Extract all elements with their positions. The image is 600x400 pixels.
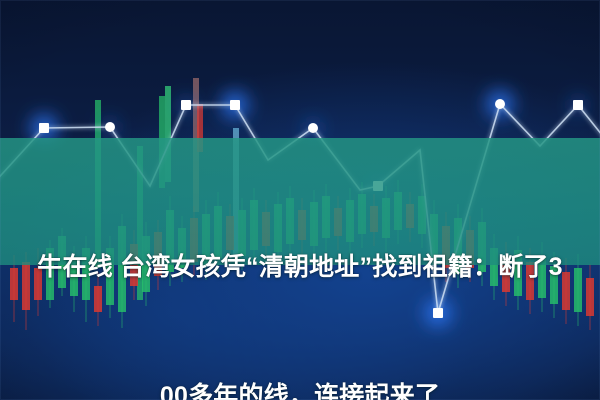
node-marker [39, 123, 49, 133]
headline-line-1: 牛在线 台湾女孩凭“清朝地址”找到祖籍：断了3 [6, 246, 594, 289]
headline-line-2: 00多年的线，连接起来了 [6, 375, 594, 400]
node-marker [105, 122, 115, 132]
node-marker [573, 100, 583, 110]
node-marker [495, 99, 505, 109]
node-marker [308, 123, 318, 133]
node-marker [230, 100, 240, 110]
headline: 牛在线 台湾女孩凭“清朝地址”找到祖籍：断了3 00多年的线，连接起来了 [0, 160, 600, 400]
news-thumbnail: 牛在线 台湾女孩凭“清朝地址”找到祖籍：断了3 00多年的线，连接起来了 [0, 0, 600, 400]
node-marker [181, 100, 191, 110]
